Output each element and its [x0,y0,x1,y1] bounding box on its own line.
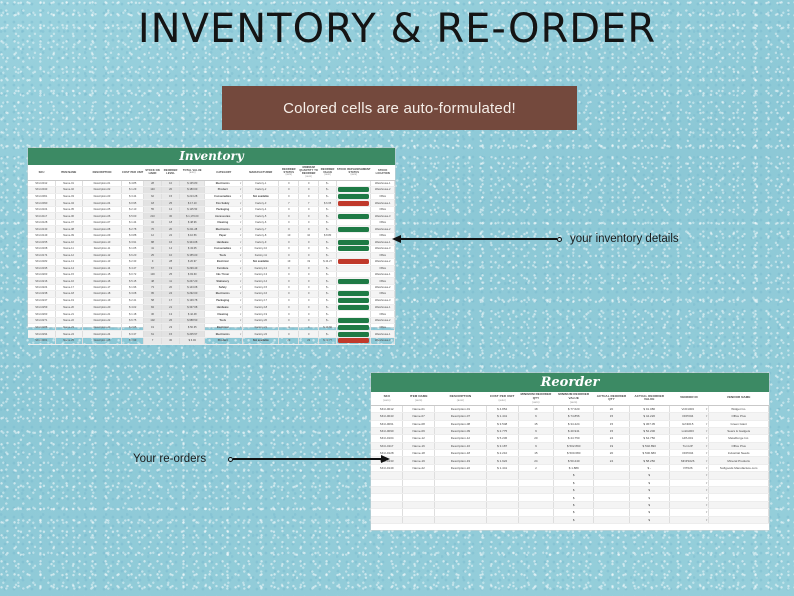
cell-empty[interactable] [435,472,487,479]
cell-actual-reorder-qty[interactable]: 15 [594,427,630,434]
cell-actual-reorder-value[interactable]: $ 502.890 [629,442,669,449]
cell-empty[interactable] [518,509,554,516]
table-row-empty[interactable]: $$▾ [371,487,769,494]
cell-sku[interactable]: SKU-0238 [28,291,55,298]
cell-empty[interactable]: ▾ [669,494,709,501]
cell-empty[interactable] [594,509,630,516]
chevron-down-icon[interactable]: ▾ [240,188,241,191]
cell-manufacturer[interactable]: Factory-2 [243,186,279,193]
cell-category[interactable]: Electrical▾ [205,324,243,331]
cell-description[interactable]: Description-24 [82,331,122,338]
cell-empty[interactable] [486,487,518,494]
cell-empty[interactable] [709,487,769,494]
cell-empty[interactable] [594,487,630,494]
cell-sku[interactable]: SKU-0259 [28,304,55,311]
cell-sku[interactable]: SKU-0216 [28,278,55,285]
cell-stock-location[interactable]: Warehouse-2 [371,186,395,193]
cell-category[interactable]: Tools▾ [205,317,243,324]
cell-stock-on-hand[interactable]: 76 [144,226,162,233]
cell-description[interactable]: Description-22 [82,317,122,324]
chevron-down-icon[interactable]: ▾ [240,273,241,276]
chevron-down-icon[interactable]: ▾ [240,299,241,302]
cell-category[interactable]: Packaging▾ [205,297,243,304]
table-row[interactable]: SKU-0117Name-16Description-16$ 3.1879$ 5… [371,442,769,449]
cell-cost-per-unit[interactable]: $ 0.99 [122,337,144,344]
cell-item-name[interactable]: Name-06 [55,213,82,220]
cell-cost-per-unit[interactable]: $ 1.05 [122,246,144,253]
cell-item-name[interactable]: Name-20 [55,304,82,311]
cell-reorder-level[interactable]: 17 [162,297,180,304]
table-row[interactable]: SKU-0259Name-20Description-20$ 4.028421$… [28,304,395,311]
cell-empty[interactable]: ▾ [669,516,709,523]
cell-stock-location[interactable]: Office [371,193,395,200]
chevron-down-icon[interactable]: ▾ [706,488,708,492]
cell-category[interactable]: Product▾ [205,337,243,344]
cell-category[interactable]: Hardware▾ [205,304,243,311]
cell-empty[interactable]: $ [554,494,594,501]
cell-description[interactable]: Description-04 [82,200,122,207]
cell-stock-on-hand[interactable]: 7 [144,337,162,344]
table-row[interactable]: SKU-0117Name-06Description-06$ 5.6021030… [28,213,395,220]
cell-actual-reorder-qty[interactable]: 24 [594,435,630,442]
reorder-table[interactable]: SKU(auto)ITEM NAME(auto)DESCRIPTION(auto… [371,392,769,524]
reorder-sheet[interactable]: Reorder SKU(auto)ITEM NAME(auto)DESCRIPT… [371,373,769,530]
cell-manufacturer[interactable]: Factory-22 [243,331,279,338]
cell-category[interactable]: Hardware▾ [205,239,243,246]
cell-empty[interactable] [709,494,769,501]
cell-manufacturer[interactable]: Factory-10 [243,246,279,253]
chevron-down-icon[interactable]: ▾ [240,247,241,250]
cell-stock-location[interactable]: Warehouse-1 [371,200,395,207]
cell-stock-location[interactable]: Warehouse-1 [371,304,395,311]
table-row-empty[interactable]: $$▾ [371,516,769,523]
cell-empty[interactable] [709,501,769,508]
cell-empty[interactable] [709,479,769,486]
cell-stock-on-hand[interactable]: 62 [144,193,162,200]
table-row[interactable]: SKU-0090Name-04Description-04$ 0.951825$… [28,200,395,207]
cell-sku[interactable]: SKU-0155 [28,239,55,246]
cell-empty[interactable] [709,472,769,479]
cell-item-name[interactable]: Name-22 [55,317,82,324]
cell-stock-on-hand[interactable]: 41 [144,246,162,253]
table-row[interactable]: SKU-0271Name-22Description-22$ 6.7510226… [28,317,395,324]
cell-reorder-level[interactable]: 28 [162,258,180,265]
chevron-down-icon[interactable]: ▾ [240,208,241,211]
chevron-down-icon[interactable]: ▾ [240,221,241,224]
table-row-empty[interactable]: $$▾ [371,494,769,501]
cell-reorder-level[interactable]: 23 [162,324,180,331]
cell-manufacturer[interactable]: Factory-14 [243,278,279,285]
cell-manufacturer[interactable]: Factory-17 [243,297,279,304]
table-row[interactable]: SKU-0043Name-02Description-02$ 1.2914020… [28,186,395,193]
cell-empty[interactable] [435,479,487,486]
reorder-col-3[interactable]: COST PER UNIT(auto) [486,392,518,405]
cell-empty[interactable] [518,516,554,523]
table-row[interactable]: SKU-0294Name-24Description-24$ 3.376115$… [28,331,395,338]
table-row[interactable]: SKU-0238Name-18Description-18$ 3.089524$… [28,291,395,298]
chevron-down-icon[interactable]: ▾ [706,407,708,411]
cell-actual-reorder-value[interactable]: $ 52.200 [629,427,669,434]
table-row[interactable]: SKU-0061Name-08Description-08$ 3.54815$ … [371,420,769,427]
cell-stock-on-hand[interactable]: 58 [144,297,162,304]
cell-empty[interactable]: $ [629,501,669,508]
cell-actual-reorder-qty[interactable]: 24 [594,457,630,464]
cell-actual-reorder-value[interactable]: $ 91.080 [629,405,669,412]
chevron-down-icon[interactable]: ▾ [706,510,708,514]
inventory-col-12[interactable]: STOCK REPLENISHMENT STATUS(auto) [337,165,371,180]
inventory-col-9[interactable]: REORDER STATUS(auto) [279,165,299,180]
chevron-down-icon[interactable]: ▾ [240,234,241,237]
cell-empty[interactable]: ▾ [669,509,709,516]
cell-description[interactable]: Description-02 [82,186,122,193]
cell-reorder-level[interactable]: 15 [162,193,180,200]
cell-item-name[interactable]: Name-23 [55,324,82,331]
cell-stock-on-hand[interactable]: 61 [144,331,162,338]
reorder-col-2[interactable]: DESCRIPTION(auto) [435,392,487,405]
cell-empty[interactable] [371,509,403,516]
cell-vendor-id[interactable]: GrNt015▾ [669,420,709,427]
cell-manufacturer[interactable]: Factory-18 [243,304,279,311]
chevron-down-icon[interactable]: ▾ [240,339,241,342]
cell-reorder-level[interactable]: 30 [162,213,180,220]
table-row[interactable]: SKU-0155Name-10Description-10$ 3.918816$… [28,239,395,246]
cell-cost-per-unit[interactable]: $ 1.29 [122,186,144,193]
cell-stock-on-hand[interactable]: 140 [144,186,162,193]
cell-vendor-name[interactable]: Industrial Needs [709,450,769,457]
cell-cost-per-unit[interactable]: $ 2.78 [122,226,144,233]
cell-stock-location[interactable]: Office [371,324,395,331]
inventory-table[interactable]: SKUITEM NAMEDESCRIPTIONCOST PER UNITSTOC… [28,165,395,345]
reorder-col-4[interactable]: MINIMUM REORDER QTY(auto) [518,392,554,405]
chevron-down-icon[interactable]: ▾ [706,503,708,507]
cell-category[interactable]: Electronics▾ [205,291,243,298]
inventory-col-10[interactable]: MINIMUM QUANTITY TO REORDER(auto) [299,165,319,180]
cell-cost-per-unit[interactable]: $ 2.33 [122,258,144,265]
cell-category[interactable]: Accessories▾ [205,213,243,220]
inventory-col-1[interactable]: ITEM NAME [55,165,82,180]
cell-description[interactable]: Description-23 [82,324,122,331]
cell-item-name[interactable]: Name-25 [55,337,82,344]
reorder-col-9[interactable]: VENDOR NAME [709,392,769,405]
table-row[interactable]: SKU-0149Name-22Description-22$ 1.4412$ 1… [371,464,769,471]
cell-vendor-id[interactable]: HPL001▾ [669,435,709,442]
cell-empty[interactable]: $ [629,494,669,501]
cell-empty[interactable]: $ [554,516,594,523]
cell-item-name[interactable]: Name-03 [55,193,82,200]
cell-empty[interactable]: $ [629,509,669,516]
cell-empty[interactable]: ▾ [669,472,709,479]
cell-stock-on-hand[interactable]: 88 [144,239,162,246]
inventory-col-11[interactable]: REORDER VALUE(auto) [319,165,337,180]
cell-sku[interactable]: SKU-0288 [28,324,55,331]
cell-empty[interactable] [594,501,630,508]
reorder-col-7[interactable]: ACTUAL REORDER VALUE [629,392,669,405]
inventory-col-13[interactable]: STOCK LOCATION [371,165,395,180]
cell-cost-per-unit[interactable]: $ 3.37 [122,331,144,338]
cell-vendor-name[interactable]: Office Plus [709,442,769,449]
cell-manufacturer[interactable]: Not available [243,258,279,265]
table-row[interactable]: SKU-0061Name-03Description-03$ 3.446215$… [28,193,395,200]
cell-stock-on-hand[interactable]: 95 [144,291,162,298]
cell-sku[interactable]: SKU-0294 [28,331,55,338]
chevron-down-icon[interactable]: ▾ [706,518,708,522]
table-row[interactable]: SKU-0247Name-19Description-19$ 2.415817$… [28,297,395,304]
cell-vendor-name[interactable]: Green Giant [709,420,769,427]
cell-vendor-name[interactable]: MetalForge Inc. [709,435,769,442]
cell-item-name[interactable]: Name-24 [55,331,82,338]
chevron-down-icon[interactable]: ▾ [706,473,708,477]
table-row-empty[interactable]: $$▾ [371,501,769,508]
cell-stock-on-hand[interactable]: 19 [144,324,162,331]
inventory-sheet[interactable]: Inventory SKUITEM NAMEDESCRIPTIONCOST PE… [28,148,395,327]
cell-actual-reorder-qty[interactable]: 20 [594,405,630,412]
chevron-down-icon[interactable]: ▾ [706,444,708,448]
cell-sku[interactable]: SKU-0117 [28,213,55,220]
inventory-col-5[interactable]: REORDER LEVEL [162,165,180,180]
table-row[interactable]: SKU-0090Name-09Description-09$ 2.7759$ 4… [371,427,769,434]
cell-empty[interactable] [435,509,487,516]
cell-sku[interactable]: SKU-0247 [28,297,55,304]
table-row[interactable]: SKU-0012Name-01Description-01$ 4.85418$ … [371,405,769,412]
cell-empty[interactable]: ▾ [669,501,709,508]
cell-description[interactable]: Description-06 [82,213,122,220]
cell-empty[interactable]: ▾ [669,479,709,486]
cell-vendor-id[interactable]: MNP1026▾ [669,457,709,464]
table-row[interactable]: SKU-0288Name-23Description-23$ 2.651923$… [28,324,395,331]
cell-empty[interactable] [518,472,554,479]
cell-item-name[interactable]: Name-02 [55,186,82,193]
cell-stock-on-hand[interactable]: 84 [144,304,162,311]
cell-manufacturer[interactable]: Factory-3 [243,200,279,207]
inventory-col-0[interactable]: SKU [28,165,55,180]
cell-stock-location[interactable]: Warehouse-3 [371,337,395,344]
cell-category[interactable]: Fire Safety▾ [205,200,243,207]
cell-manufacturer[interactable]: Not available [243,337,279,344]
reorder-col-0[interactable]: SKU(auto) [371,392,403,405]
cell-reorder-level[interactable]: 15 [162,331,180,338]
cell-stock-location[interactable]: Warehouse-3 [371,246,395,253]
cell-actual-reorder-qty[interactable]: 15 [594,413,630,420]
chevron-down-icon[interactable]: ▾ [240,292,241,295]
chevron-down-icon[interactable]: ▾ [240,182,241,185]
cell-stock-on-hand[interactable]: 18 [144,200,162,207]
cell-category[interactable]: Electronics▾ [205,226,243,233]
cell-item-name[interactable]: Name-19 [55,297,82,304]
cell-reorder-level[interactable]: 25 [162,200,180,207]
cell-stock-location[interactable]: Office [371,291,395,298]
cell-empty[interactable] [403,509,435,516]
table-row-empty[interactable]: $$▾ [371,479,769,486]
chevron-down-icon[interactable]: ▾ [706,466,708,470]
cell-empty[interactable] [594,494,630,501]
cell-empty[interactable] [486,494,518,501]
chevron-down-icon[interactable]: ▾ [240,313,241,316]
cell-cost-per-unit[interactable]: $ 2.41 [122,297,144,304]
cell-empty[interactable]: $ [554,487,594,494]
cell-empty[interactable] [403,501,435,508]
cell-empty[interactable] [435,516,487,523]
cell-empty[interactable]: $ [554,472,594,479]
chevron-down-icon[interactable]: ▾ [240,254,241,257]
cell-empty[interactable]: ▾ [669,487,709,494]
reorder-col-1[interactable]: ITEM NAME(auto) [403,392,435,405]
cell-manufacturer[interactable]: Factory-16 [243,291,279,298]
cell-empty[interactable] [435,501,487,508]
cell-empty[interactable] [403,479,435,486]
table-row[interactable]: SKU-0133Name-08Description-08$ 2.787620$… [28,226,395,233]
cell-item-name[interactable]: Name-18 [55,291,82,298]
reorder-col-5[interactable]: MINIMUM REORDER VALUE(auto) [554,392,594,405]
chevron-down-icon[interactable]: ▾ [240,319,241,322]
chevron-down-icon[interactable]: ▾ [240,267,241,270]
cell-description[interactable]: Description-16 [82,278,122,285]
cell-empty[interactable] [709,509,769,516]
cell-empty[interactable]: $ [629,472,669,479]
cell-empty[interactable] [403,516,435,523]
cell-empty[interactable] [594,479,630,486]
table-row[interactable]: SKU-0182Name-13Description-13$ 2.33928$ … [28,258,395,265]
cell-item-name[interactable]: Name-10 [55,239,82,246]
inventory-col-2[interactable]: DESCRIPTION [82,165,122,180]
cell-empty[interactable] [371,472,403,479]
cell-empty[interactable]: $ [629,479,669,486]
cell-empty[interactable]: $ [629,487,669,494]
cell-description[interactable]: Description-19 [82,297,122,304]
cell-actual-reorder-qty[interactable] [594,464,630,471]
cell-cost-per-unit[interactable]: $ 3.08 [122,291,144,298]
inventory-col-3[interactable]: COST PER UNIT [122,165,144,180]
cell-cost-per-unit[interactable]: $ 3.44 [122,193,144,200]
cell-actual-reorder-value[interactable]: $ 44.220 [629,413,669,420]
cell-empty[interactable] [486,479,518,486]
table-row-empty[interactable]: $$▾ [371,509,769,516]
cell-vendor-id[interactable]: LnkG003▾ [669,427,709,434]
cell-description[interactable]: Description-20 [82,304,122,311]
cell-description[interactable]: Description-13 [82,258,122,265]
cell-reorder-level[interactable]: 11 [162,278,180,285]
cell-sku[interactable]: SKU-0061 [28,193,55,200]
cell-cost-per-unit[interactable]: $ 5.60 [122,213,144,220]
cell-actual-reorder-value[interactable]: $ 367.05 [629,420,669,427]
reorder-col-8[interactable]: VENDOR ID [669,392,709,405]
chevron-down-icon[interactable]: ▾ [240,333,241,336]
cell-empty[interactable] [518,494,554,501]
inventory-col-4[interactable]: STOCK ON HAND [144,165,162,180]
cell-category[interactable]: Consumables▾ [205,246,243,253]
cell-item-name[interactable]: Name-16 [55,278,82,285]
cell-actual-reorder-value[interactable]: $ 64.750 [629,435,669,442]
cell-sku[interactable]: SKU-0271 [28,317,55,324]
cell-vendor-name[interactable]: Sears & Gadgets [709,427,769,434]
cell-description[interactable]: Description-11 [82,246,122,253]
cell-manufacturer[interactable]: Factory-9 [243,239,279,246]
cell-sku[interactable]: SKU-0301 [28,337,55,344]
chevron-down-icon[interactable]: ▾ [706,429,708,433]
cell-empty[interactable]: $ [554,509,594,516]
cell-empty[interactable] [518,487,554,494]
cell-empty[interactable] [403,487,435,494]
cell-vendor-name[interactable]: Widget Co. [709,405,769,412]
cell-reorder-level[interactable]: 14 [162,246,180,253]
cell-manufacturer[interactable]: Factory-20 [243,317,279,324]
cell-reorder-level[interactable]: 26 [162,317,180,324]
cell-empty[interactable] [486,509,518,516]
cell-empty[interactable] [371,487,403,494]
cell-stock-location[interactable]: Warehouse-3 [371,297,395,304]
cell-actual-reorder-qty[interactable]: 20 [594,450,630,457]
cell-sku[interactable]: SKU-0043 [28,186,55,193]
cell-empty[interactable] [486,516,518,523]
cell-category[interactable]: Electrical▾ [205,258,243,265]
chevron-down-icon[interactable]: ▾ [706,451,708,455]
table-row[interactable]: SKU-0043Name-07Description-07$ 1.4416$ 7… [371,413,769,420]
cell-stock-location[interactable]: Warehouse-1 [371,239,395,246]
cell-category[interactable]: Electronics▾ [205,331,243,338]
cell-empty[interactable] [371,494,403,501]
cell-empty[interactable] [518,479,554,486]
cell-sku[interactable]: SKU-0182 [28,258,55,265]
chevron-down-icon[interactable]: ▾ [706,414,708,418]
cell-empty[interactable] [371,479,403,486]
cell-vendor-id[interactable]: VnD1003▾ [669,405,709,412]
cell-empty[interactable] [594,516,630,523]
cell-cost-per-unit[interactable]: $ 0.95 [122,200,144,207]
cell-description[interactable]: Description-08 [82,226,122,233]
cell-empty[interactable] [435,487,487,494]
cell-reorder-level[interactable]: 20 [162,186,180,193]
chevron-down-icon[interactable]: ▾ [706,496,708,500]
chevron-down-icon[interactable]: ▾ [240,202,241,205]
cell-cost-per-unit[interactable]: $ 4.02 [122,304,144,311]
cell-vendor-name[interactable]: Softgoods Manufacture.com [709,464,769,471]
cell-vendor-id[interactable]: VIT026▾ [669,464,709,471]
cell-stock-on-hand[interactable]: 9 [144,258,162,265]
cell-sku[interactable]: SKU-0090 [28,200,55,207]
cell-reorder-level[interactable]: 30 [162,337,180,344]
cell-vendor-id[interactable]: TurnUP▾ [669,442,709,449]
cell-item-name[interactable]: Name-08 [55,226,82,233]
cell-empty[interactable] [518,501,554,508]
cell-empty[interactable]: $ [554,479,594,486]
cell-item-name[interactable]: Name-11 [55,246,82,253]
cell-reorder-level[interactable]: 16 [162,239,180,246]
chevron-down-icon[interactable]: ▾ [240,195,241,198]
cell-empty[interactable] [403,494,435,501]
cell-cost-per-unit[interactable]: $ 2.65 [122,324,144,331]
table-row[interactable]: SKU-0301Name-25Description-25$ 0.99730$ … [28,337,395,344]
cell-empty[interactable] [709,516,769,523]
cell-description[interactable]: Description-25 [82,337,122,344]
table-row[interactable]: SKU-0128Name-18Description-18$ 2.21015$ … [371,450,769,457]
cell-empty[interactable] [486,501,518,508]
cell-reorder-level[interactable]: 21 [162,304,180,311]
cell-empty[interactable] [371,501,403,508]
cell-empty[interactable]: $ [629,516,669,523]
chevron-down-icon[interactable]: ▾ [240,280,241,283]
cell-category[interactable]: Stationery▾ [205,278,243,285]
cell-category[interactable]: Consumables▾ [205,193,243,200]
cell-description[interactable]: Description-10 [82,239,122,246]
cell-stock-on-hand[interactable]: 102 [144,317,162,324]
cell-stock-location[interactable]: Warehouse-2 [371,226,395,233]
cell-vendor-id[interactable]: OFP004▾ [669,450,709,457]
cell-actual-reorder-value[interactable]: $ 58.250 [629,457,669,464]
cell-reorder-level[interactable]: 24 [162,291,180,298]
reorder-col-6[interactable]: ACTUAL REORDER QTY [594,392,630,405]
cell-description[interactable]: Description-18 [82,291,122,298]
cell-manufacturer[interactable]: Factory-7 [243,226,279,233]
chevron-down-icon[interactable]: ▾ [240,286,241,289]
